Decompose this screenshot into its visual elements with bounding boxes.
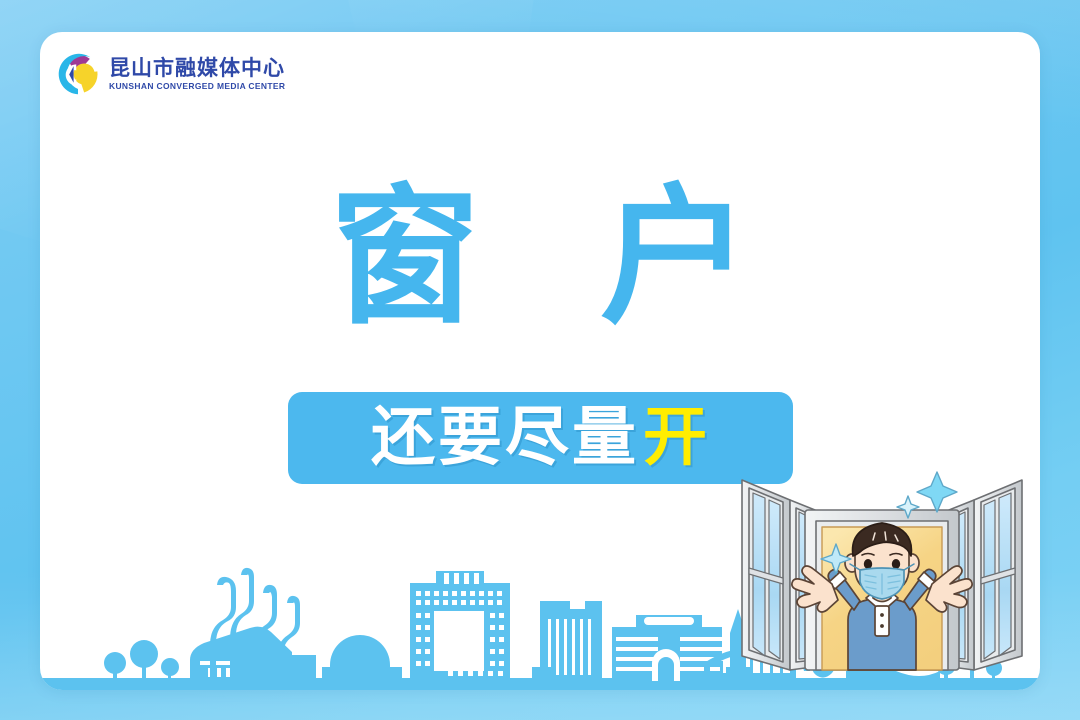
- page-title: 窗 户: [40, 180, 1040, 338]
- poster-root: 昆山市融媒体中心 KUNSHAN CONVERGED MEDIA CENTER …: [0, 0, 1080, 720]
- brand-name-cn: 昆山市融媒体中心: [109, 58, 285, 79]
- content-card: 昆山市融媒体中心 KUNSHAN CONVERGED MEDIA CENTER …: [40, 32, 1040, 690]
- brand-logo: 昆山市融媒体中心 KUNSHAN CONVERGED MEDIA CENTER: [56, 52, 285, 96]
- subtitle-text-accent: 开: [643, 406, 710, 470]
- subtitle-text-primary: 还要尽量: [371, 406, 639, 470]
- brand-name-en: KUNSHAN CONVERGED MEDIA CENTER: [109, 82, 289, 90]
- brand-logo-text: 昆山市融媒体中心 KUNSHAN CONVERGED MEDIA CENTER: [109, 58, 285, 90]
- boy-opening-window-illustration: [732, 460, 1032, 690]
- subtitle-banner: 还要尽量 开: [288, 392, 793, 484]
- kunshan-media-circle-logo-icon: [56, 52, 100, 96]
